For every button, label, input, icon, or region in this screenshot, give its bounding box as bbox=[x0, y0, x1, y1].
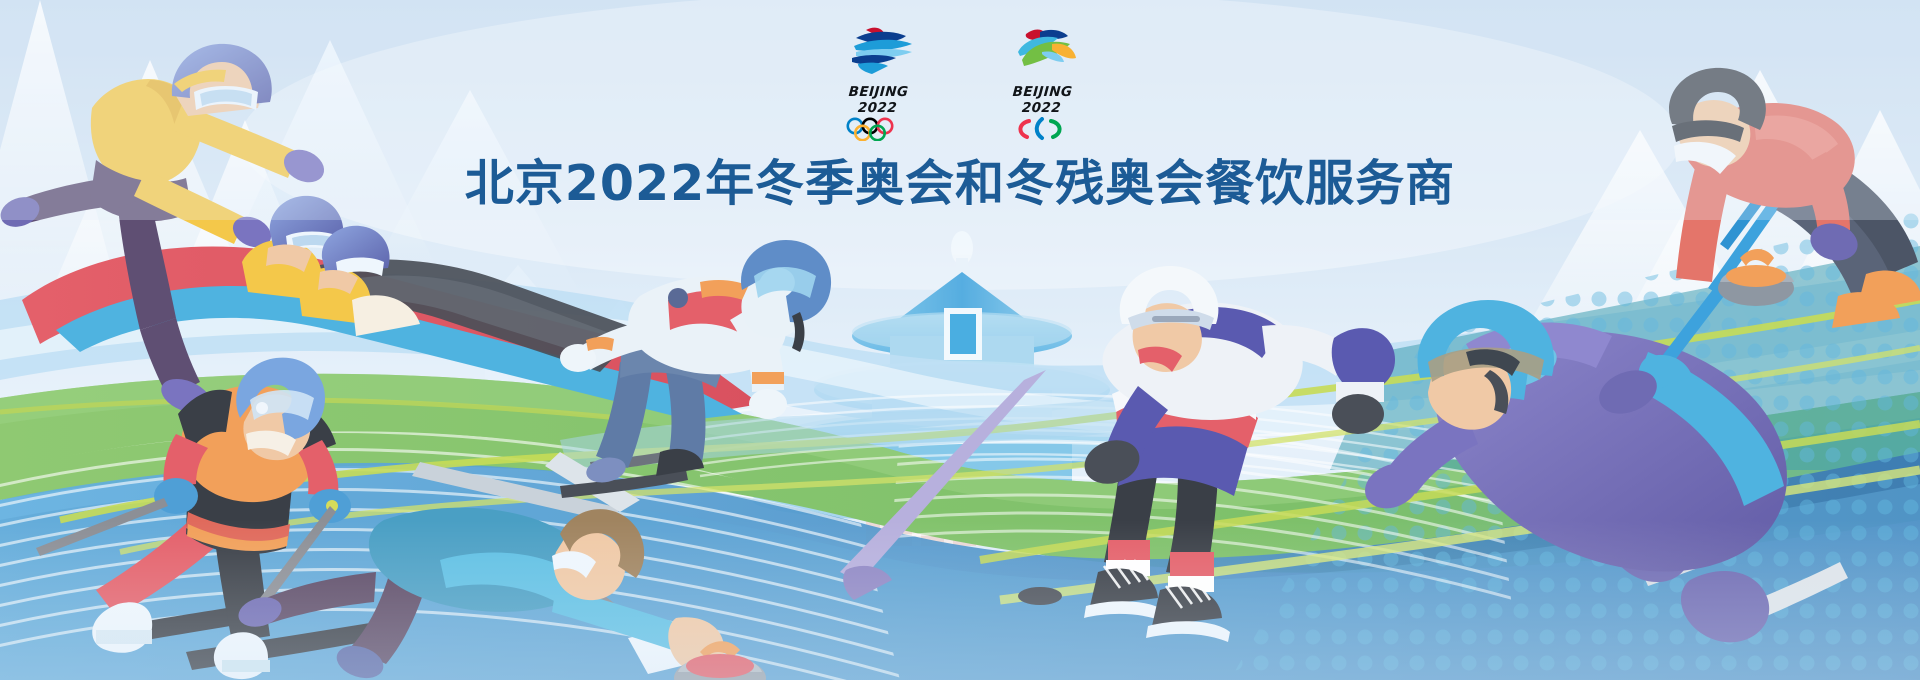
foreground-haze bbox=[0, 0, 1920, 680]
olympic-banner: BEIJING 2022 bbox=[0, 0, 1920, 680]
